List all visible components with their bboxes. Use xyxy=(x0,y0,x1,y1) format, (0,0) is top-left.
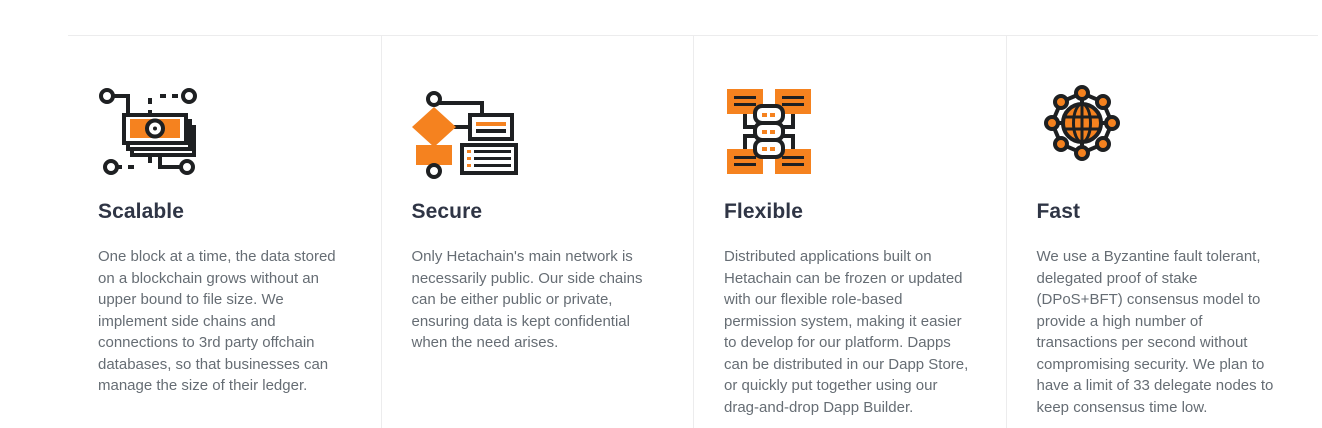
secure-flowchart-icon xyxy=(412,83,524,179)
features-columns: Scalable One block at a time, the data s… xyxy=(68,36,1318,428)
features-section: Scalable One block at a time, the data s… xyxy=(0,0,1322,428)
feature-title: Fast xyxy=(1037,199,1285,224)
feature-title: Secure xyxy=(412,199,660,224)
feature-description: Only Hetachain's main network is necessa… xyxy=(412,246,660,354)
feature-description: We use a Byzantine fault tolerant, deleg… xyxy=(1037,246,1285,418)
feature-title: Scalable xyxy=(98,199,347,224)
feature-card-scalable: Scalable One block at a time, the data s… xyxy=(68,36,381,428)
feature-title: Flexible xyxy=(724,199,972,224)
feature-card-flexible: Flexible Distributed applications built … xyxy=(693,36,1006,428)
feature-card-fast: Fast We use a Byzantine fault tolerant, … xyxy=(1006,36,1319,428)
scalable-blocks-icon xyxy=(98,83,210,179)
feature-card-secure: Secure Only Hetachain's main network is … xyxy=(381,36,694,428)
flexible-server-network-icon xyxy=(724,83,836,179)
fast-globe-network-icon xyxy=(1037,83,1149,179)
feature-description: One block at a time, the data stored on … xyxy=(98,246,347,397)
feature-description: Distributed applications built on Hetach… xyxy=(724,246,972,418)
